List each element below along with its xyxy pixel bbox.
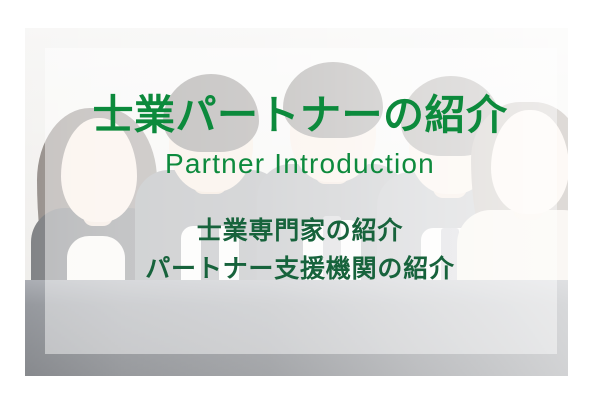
team-photo bbox=[25, 28, 568, 376]
translucent-overlay-panel bbox=[45, 48, 557, 354]
partner-introduction-banner: 士業パートナーの紹介 Partner Introduction 士業専門家の紹介… bbox=[0, 0, 600, 400]
